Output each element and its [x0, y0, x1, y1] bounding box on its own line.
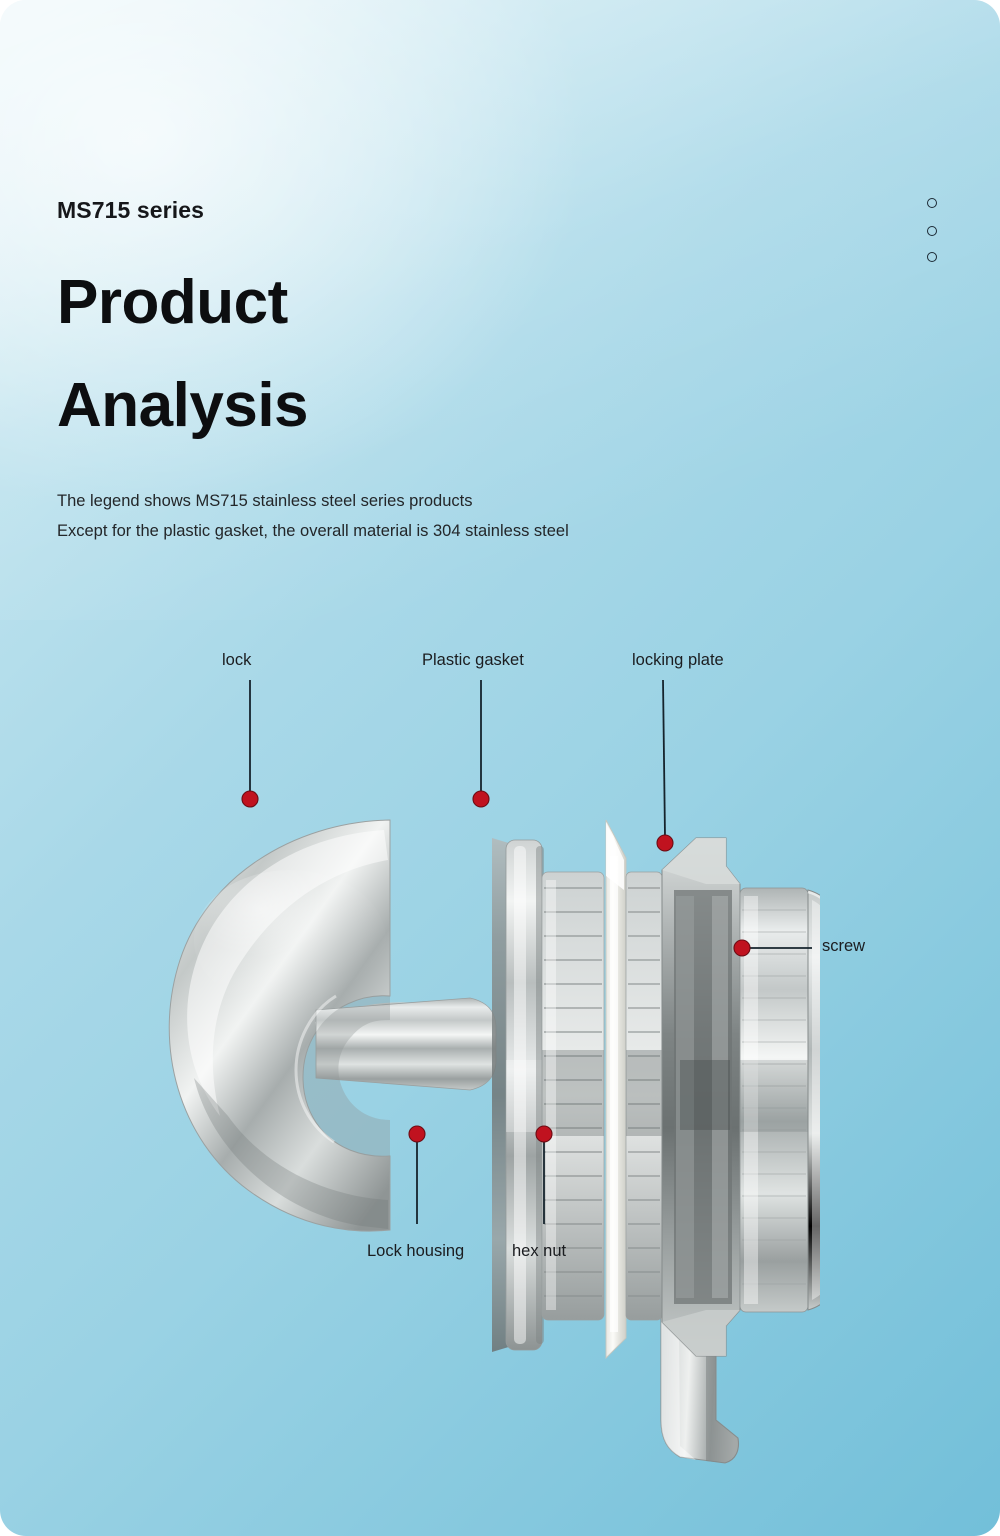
lock-housing-flange [492, 838, 544, 1352]
decorative-circle-icon [927, 252, 937, 262]
hex-nut [662, 838, 740, 1356]
wing-knob-handle [169, 820, 496, 1231]
description-line-1: The legend shows MS715 stainless steel s… [57, 492, 472, 511]
locking-plate [808, 890, 820, 1310]
lock-cylinder-body [740, 888, 808, 1312]
callout-label-hex-nut: hex nut [512, 1242, 566, 1261]
callout-label-locking-plate: locking plate [632, 651, 724, 670]
product-analysis-page: MS715 series Product Analysis The legend… [0, 0, 1000, 1536]
decorative-circle-icon [927, 226, 937, 236]
callout-label-plastic-gasket: Plastic gasket [422, 651, 524, 670]
decorative-circle-icon [927, 198, 937, 208]
callout-label-lock-housing: Lock housing [367, 1242, 464, 1261]
page-title-line-1: Product [57, 272, 288, 334]
plastic-gasket [606, 820, 626, 1358]
threaded-barrel-right [626, 872, 662, 1320]
series-label: MS715 series [57, 197, 204, 224]
decorative-circles [927, 198, 947, 278]
callout-label-lock: lock [222, 651, 251, 670]
page-title-line-2: Analysis [57, 375, 308, 437]
description-line-2: Except for the plastic gasket, the overa… [57, 522, 569, 541]
product-photo [140, 760, 820, 1490]
callout-label-screw: screw [822, 937, 865, 956]
